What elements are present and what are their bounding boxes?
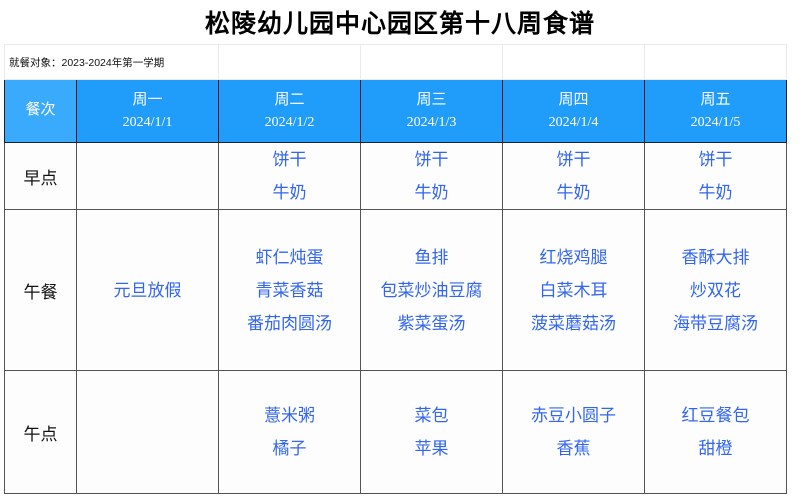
menu-cell-morning-snack-monday: [77, 143, 219, 210]
dish-name: 饼干: [645, 143, 786, 176]
subtitle-row: 就餐对象：2023-2024年第一学期: [5, 45, 787, 80]
dish-name: 虾仁炖蛋: [219, 241, 360, 274]
menu-cell-afternoon-snack-monday: [77, 371, 219, 494]
menu-cell-afternoon-snack-tuesday: 薏米粥橘子: [219, 371, 361, 494]
menu-cell-lunch-tuesday: 虾仁炖蛋青菜香菇番茄肉圆汤: [219, 210, 361, 371]
header-meal-type: 餐次: [5, 80, 77, 143]
dish-name: 白菜木耳: [503, 274, 644, 307]
dish-name: 紫菜蛋汤: [361, 307, 502, 340]
header-date-label: 2024/1/1: [77, 112, 218, 134]
dish-name: 饼干: [361, 143, 502, 176]
menu-table-body: 就餐对象：2023-2024年第一学期 餐次 周一 2024/1/1 周二 20…: [5, 45, 787, 494]
table-row-lunch: 午餐 元旦放假 虾仁炖蛋青菜香菇番茄肉圆汤 鱼排包菜炒油豆腐紫菜蛋汤 红烧鸡腿白…: [5, 210, 787, 371]
menu-cell-morning-snack-friday: 饼干牛奶: [645, 143, 787, 210]
table-row-morning-snack: 早点 饼干牛奶 饼干牛奶 饼干牛奶 饼干牛奶: [5, 143, 787, 210]
subtitle-spacer-cell: [361, 45, 503, 80]
menu-cell-afternoon-snack-wednesday: 菜包苹果: [361, 371, 503, 494]
dish-name: 包菜炒油豆腐: [361, 274, 502, 307]
page-title: 松陵幼儿园中心园区第十八周食谱: [205, 4, 595, 40]
dish-name: 薏米粥: [219, 399, 360, 432]
meal-label-lunch: 午餐: [5, 210, 77, 371]
header-dow-label: 周四: [503, 89, 644, 112]
header-day-monday: 周一 2024/1/1: [77, 80, 219, 143]
dish-name: 菠菜蘑菇汤: [503, 307, 644, 340]
menu-cell-afternoon-snack-friday: 红豆餐包甜橙: [645, 371, 787, 494]
dish-name: 番茄肉圆汤: [219, 307, 360, 340]
dish-name: 牛奶: [219, 176, 360, 209]
menu-cell-morning-snack-thursday: 饼干牛奶: [503, 143, 645, 210]
header-date-label: 2024/1/2: [219, 112, 360, 134]
header-day-tuesday: 周二 2024/1/2: [219, 80, 361, 143]
header-day-wednesday: 周三 2024/1/3: [361, 80, 503, 143]
dish-name: 赤豆小圆子: [503, 399, 644, 432]
meal-label-afternoon-snack: 午点: [5, 371, 77, 494]
menu-cell-lunch-monday: 元旦放假: [77, 210, 219, 371]
dining-audience-note: 就餐对象：2023-2024年第一学期: [5, 45, 219, 80]
dish-name: 香酥大排: [645, 241, 786, 274]
dish-name: 青菜香菇: [219, 274, 360, 307]
header-dow-label: 周二: [219, 89, 360, 112]
dish-name: 元旦放假: [77, 274, 218, 307]
weekly-menu-table: 就餐对象：2023-2024年第一学期 餐次 周一 2024/1/1 周二 20…: [4, 44, 787, 494]
header-date-label: 2024/1/5: [645, 112, 786, 134]
header-dow-label: 周一: [77, 89, 218, 112]
meal-label-morning-snack: 早点: [5, 143, 77, 210]
header-dow-label: 周三: [361, 89, 502, 112]
dish-name: 牛奶: [361, 176, 502, 209]
dish-name: 红豆餐包: [645, 399, 786, 432]
subtitle-spacer-cell: [219, 45, 361, 80]
menu-cell-morning-snack-wednesday: 饼干牛奶: [361, 143, 503, 210]
menu-cell-afternoon-snack-thursday: 赤豆小圆子香蕉: [503, 371, 645, 494]
dish-name: 香蕉: [503, 432, 644, 465]
header-date-label: 2024/1/4: [503, 112, 644, 134]
dish-name: 牛奶: [645, 176, 786, 209]
menu-sheet: 就餐对象：2023-2024年第一学期 餐次 周一 2024/1/1 周二 20…: [4, 44, 786, 494]
dish-name: 鱼排: [361, 241, 502, 274]
table-header-row: 餐次 周一 2024/1/1 周二 2024/1/2 周三 2024/1/3 周…: [5, 80, 787, 143]
header-dow-label: 周五: [645, 89, 786, 112]
table-row-afternoon-snack: 午点 薏米粥橘子 菜包苹果 赤豆小圆子香蕉 红豆餐包甜橙: [5, 371, 787, 494]
header-date-label: 2024/1/3: [361, 112, 502, 134]
dish-name: 甜橙: [645, 432, 786, 465]
dish-name: 饼干: [503, 143, 644, 176]
dish-name: 炒双花: [645, 274, 786, 307]
dish-name: 橘子: [219, 432, 360, 465]
menu-cell-lunch-wednesday: 鱼排包菜炒油豆腐紫菜蛋汤: [361, 210, 503, 371]
title-band: 松陵幼儿园中心园区第十八周食谱: [0, 0, 800, 44]
subtitle-spacer-cell: [645, 45, 787, 80]
dish-name: 饼干: [219, 143, 360, 176]
header-day-thursday: 周四 2024/1/4: [503, 80, 645, 143]
dish-name: 菜包: [361, 399, 502, 432]
header-day-friday: 周五 2024/1/5: [645, 80, 787, 143]
dish-name: 海带豆腐汤: [645, 307, 786, 340]
dish-name: 牛奶: [503, 176, 644, 209]
dish-name: 红烧鸡腿: [503, 241, 644, 274]
menu-cell-lunch-friday: 香酥大排炒双花海带豆腐汤: [645, 210, 787, 371]
menu-cell-morning-snack-tuesday: 饼干牛奶: [219, 143, 361, 210]
menu-cell-lunch-thursday: 红烧鸡腿白菜木耳菠菜蘑菇汤: [503, 210, 645, 371]
dish-name: 苹果: [361, 432, 502, 465]
subtitle-spacer-cell: [503, 45, 645, 80]
